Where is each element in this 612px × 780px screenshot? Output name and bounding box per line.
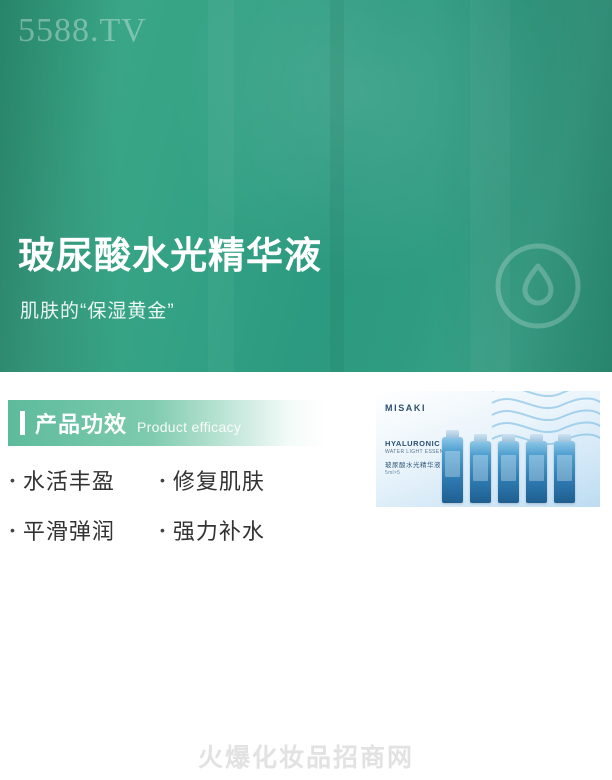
product-brand-label: MISAKI <box>385 403 426 413</box>
vial-icon <box>526 441 547 503</box>
hero-banner: 5588.TV 玻尿酸水光精华液 肌肤的“保湿黄金” <box>0 0 612 372</box>
list-item: • 强力补水 <box>160 514 265 546</box>
bullet-icon: • <box>160 473 166 487</box>
efficacy-title-en: Product efficacy <box>137 419 241 435</box>
hero-stripe-2 <box>330 0 344 372</box>
bullet-icon: • <box>10 473 16 487</box>
product-photo: MISAKI HYALURONIC ACID WATER LIGHT ESSEN… <box>376 391 600 507</box>
list-item: • 修复肌肤 <box>160 464 265 496</box>
list-item: • 水活丰盈 <box>10 464 160 496</box>
product-spec: 5ml×5 <box>385 470 400 476</box>
content-area: 产品功效 Product efficacy • 水活丰盈 • 修复肌肤 • 平滑… <box>0 372 612 780</box>
page-title: 玻尿酸水光精华液 <box>18 236 322 277</box>
hero-stripe-1 <box>208 0 234 372</box>
efficacy-row: • 水活丰盈 • 修复肌肤 <box>10 464 360 496</box>
bullet-icon: • <box>160 523 166 537</box>
efficacy-row: • 平滑弹润 • 强力补水 <box>10 514 360 546</box>
site-watermark: 5588.TV <box>18 12 147 50</box>
list-item-label: 修复肌肤 <box>173 464 265 496</box>
bar-accent-icon <box>20 411 25 435</box>
vial-icon <box>498 441 519 503</box>
list-item-label: 水活丰盈 <box>23 464 115 496</box>
page-subtitle: 肌肤的“保湿黄金” <box>20 296 175 323</box>
vial-icon <box>554 441 575 503</box>
footer-watermark: 火爆化妆品招商网 <box>0 738 612 774</box>
efficacy-header-bar: 产品功效 Product efficacy <box>8 400 328 446</box>
product-name-cn: 玻尿酸水光精华液 <box>385 459 441 469</box>
list-item: • 平滑弹润 <box>10 514 160 546</box>
list-item-label: 强力补水 <box>173 514 265 546</box>
bullet-icon: • <box>10 523 16 537</box>
efficacy-list: • 水活丰盈 • 修复肌肤 • 平滑弹润 • 强力补水 <box>10 464 360 564</box>
list-item-label: 平滑弹润 <box>23 514 115 546</box>
vial-icon <box>470 441 491 503</box>
droplet-ring-icon <box>492 240 584 332</box>
efficacy-title-cn: 产品功效 <box>35 407 127 439</box>
product-vials <box>438 425 598 507</box>
vial-icon <box>442 437 463 503</box>
